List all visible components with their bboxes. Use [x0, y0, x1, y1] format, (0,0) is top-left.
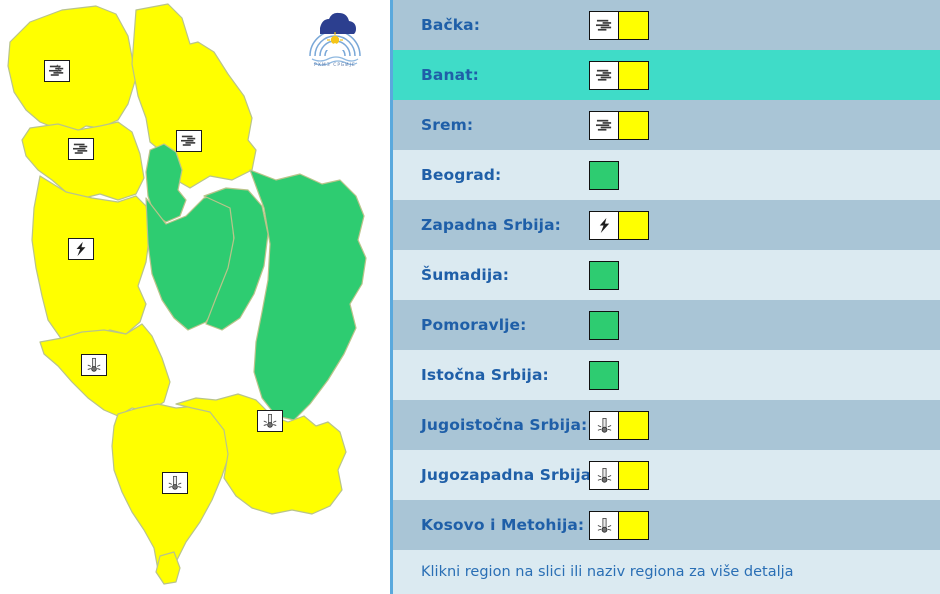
region-row-zapadna-srbija[interactable]: Zapadna Srbija: [393, 200, 940, 250]
map-region-south-tail[interactable] [156, 552, 180, 584]
region-label[interactable]: Jugoistočna Srbija: [421, 416, 589, 434]
warning-swatches [589, 61, 649, 90]
region-label[interactable]: Zapadna Srbija: [421, 216, 589, 234]
warning-swatches [589, 11, 649, 40]
thunderstorm-icon [589, 211, 619, 240]
region-row-banat[interactable]: Banat: [393, 50, 940, 100]
low-temperature-icon [162, 472, 188, 494]
rhmz-logo: РХМЗ СРБИЈЕ [304, 4, 366, 70]
yellow-warning-swatch [619, 111, 649, 140]
low-temperature-icon [589, 461, 619, 490]
wind-icon [176, 130, 202, 152]
yellow-warning-swatch [619, 11, 649, 40]
warning-swatches [589, 111, 649, 140]
map-region-backa[interactable] [8, 6, 136, 132]
map-region-zapadna-srbija[interactable] [32, 176, 150, 348]
region-label[interactable]: Jugozapadna Srbija: [421, 466, 589, 484]
warning-swatches [589, 161, 619, 190]
region-label[interactable]: Pomoravlje: [421, 316, 589, 334]
yellow-warning-swatch [619, 61, 649, 90]
wind-icon [68, 138, 94, 160]
warning-swatches [589, 211, 649, 240]
low-temperature-icon [589, 511, 619, 540]
hint-text: Klikni region na slici ili naziv regiona… [421, 564, 794, 580]
thunderstorm-icon [68, 238, 94, 260]
weather-warning-page: РХМЗ СРБИЈЕ [0, 0, 940, 594]
region-row-backa[interactable]: Bačka: [393, 0, 940, 50]
green-no-warning-swatch [589, 311, 619, 340]
map-region-istocna-srbija[interactable] [250, 170, 366, 420]
low-temperature-icon [81, 354, 107, 376]
region-label[interactable]: Bačka: [421, 16, 589, 34]
region-row-beograd[interactable]: Beograd: [393, 150, 940, 200]
region-row-istocna-srbija[interactable]: Istočna Srbija: [393, 350, 940, 400]
svg-text:РХМЗ СРБИЈЕ: РХМЗ СРБИЈЕ [314, 62, 356, 68]
region-label[interactable]: Šumadija: [421, 266, 589, 284]
region-row-kosovo-i-metohija[interactable]: Kosovo i Metohija: [393, 500, 940, 550]
yellow-warning-swatch [619, 511, 649, 540]
yellow-warning-swatch [619, 211, 649, 240]
wind-icon [589, 61, 619, 90]
region-row-jugozapadna-srbija[interactable]: Jugozapadna Srbija: [393, 450, 940, 500]
region-label[interactable]: Kosovo i Metohija: [421, 516, 589, 534]
serbia-warning-map[interactable]: РХМЗ СРБИЈЕ [0, 0, 390, 594]
serbia-map-svg[interactable] [0, 0, 390, 594]
low-temperature-icon [589, 411, 619, 440]
yellow-warning-swatch [619, 461, 649, 490]
region-row-jugoistocna-srbija[interactable]: Jugoistočna Srbija: [393, 400, 940, 450]
warning-swatches [589, 511, 649, 540]
warning-swatches [589, 411, 649, 440]
warning-swatches [589, 311, 619, 340]
wind-icon [589, 111, 619, 140]
hint-row: Klikni region na slici ili naziv regiona… [393, 550, 940, 594]
green-no-warning-swatch [589, 361, 619, 390]
region-row-sumadija[interactable]: Šumadija: [393, 250, 940, 300]
warning-swatches [589, 361, 619, 390]
wind-icon [44, 60, 70, 82]
warning-swatches [589, 461, 649, 490]
region-row-pomoravlje[interactable]: Pomoravlje: [393, 300, 940, 350]
region-label[interactable]: Istočna Srbija: [421, 366, 589, 384]
warning-swatches [589, 261, 619, 290]
region-warning-list: Bačka: Banat: [390, 0, 940, 594]
green-no-warning-swatch [589, 161, 619, 190]
region-label[interactable]: Srem: [421, 116, 589, 134]
region-label[interactable]: Beograd: [421, 166, 589, 184]
region-label[interactable]: Banat: [421, 66, 589, 84]
region-row-srem[interactable]: Srem: [393, 100, 940, 150]
wind-icon [589, 11, 619, 40]
green-no-warning-swatch [589, 261, 619, 290]
yellow-warning-swatch [619, 411, 649, 440]
low-temperature-icon [257, 410, 283, 432]
